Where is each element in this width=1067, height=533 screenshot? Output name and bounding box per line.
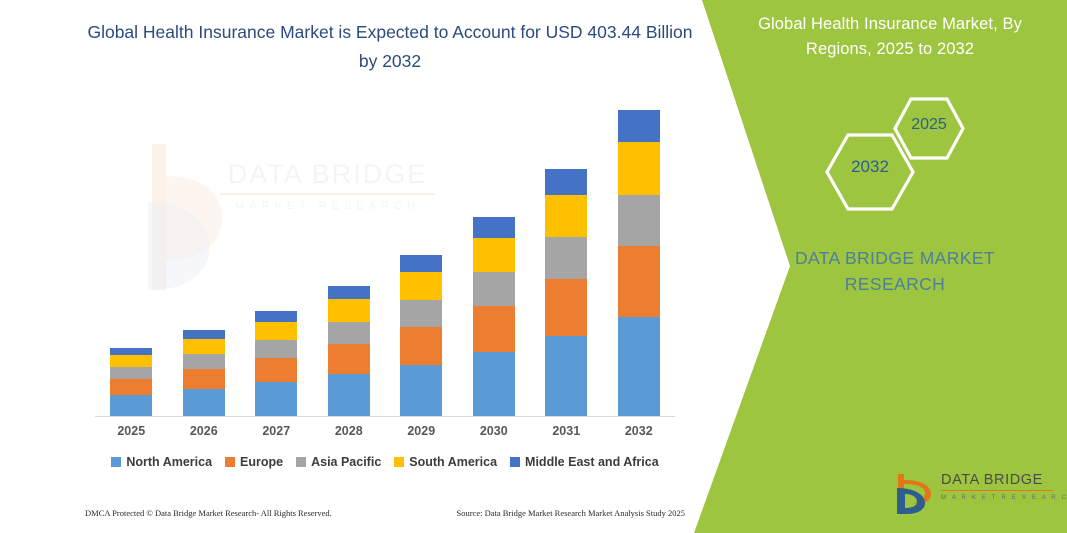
bar-segment[interactable] [183, 339, 225, 354]
x-axis-label: 2031 [545, 424, 587, 438]
bar-2026[interactable] [183, 330, 225, 417]
panel-brand-line2: RESEARCH [760, 271, 1030, 297]
bar-segment[interactable] [473, 217, 515, 238]
bar-segment[interactable] [400, 255, 442, 272]
hexagon-label-end-year: 2032 [825, 157, 915, 177]
legend-swatch-icon [510, 457, 520, 467]
bar-segment[interactable] [328, 299, 370, 321]
bar-segment[interactable] [110, 367, 152, 378]
bar-2029[interactable] [400, 255, 442, 417]
legend-label: South America [409, 455, 497, 469]
x-axis-label: 2028 [328, 424, 370, 438]
bar-segment[interactable] [255, 358, 297, 383]
footer-copyright: DMCA Protected © Data Bridge Market Rese… [85, 508, 332, 518]
bar-segment[interactable] [618, 195, 660, 246]
footer: DMCA Protected © Data Bridge Market Rese… [85, 508, 685, 518]
bar-segment[interactable] [255, 340, 297, 358]
hexagon-label-start-year: 2025 [893, 116, 965, 134]
x-axis-label: 2029 [400, 424, 442, 438]
logo-wordmark: DATA BRIDGE M A R K E T R E S E A R C H [941, 472, 1053, 502]
chart-legend: North AmericaEuropeAsia PacificSouth Ame… [95, 455, 675, 469]
legend-item[interactable]: Middle East and Africa [510, 455, 659, 469]
bar-segment[interactable] [328, 374, 370, 417]
page-title: Global Health Insurance Market is Expect… [85, 18, 695, 76]
hexagon-badge-end-year: 2032 [825, 133, 915, 211]
bar-segment[interactable] [183, 369, 225, 389]
bar-segment[interactable] [545, 169, 587, 195]
bar-segment[interactable] [183, 389, 225, 417]
footer-source: Source: Data Bridge Market Research Mark… [456, 508, 685, 518]
legend-item[interactable]: Asia Pacific [296, 455, 381, 469]
bar-segment[interactable] [110, 395, 152, 417]
data-bridge-logo-icon [893, 472, 935, 514]
bar-2031[interactable] [545, 169, 587, 417]
bar-segment[interactable] [328, 322, 370, 344]
x-axis-label: 2026 [183, 424, 225, 438]
bar-segment[interactable] [618, 142, 660, 195]
bar-segment[interactable] [328, 344, 370, 374]
legend-item[interactable]: North America [111, 455, 212, 469]
panel-brand: DATA BRIDGE MARKET RESEARCH [760, 245, 1030, 297]
bar-segment[interactable] [110, 379, 152, 395]
legend-label: Asia Pacific [311, 455, 381, 469]
chart-plot-area [95, 110, 675, 417]
legend-swatch-icon [111, 457, 121, 467]
bar-segment[interactable] [110, 355, 152, 367]
legend-swatch-icon [394, 457, 404, 467]
bar-segment[interactable] [255, 322, 297, 340]
bar-segment[interactable] [110, 348, 152, 355]
bar-segment[interactable] [473, 306, 515, 352]
logo-title: DATA BRIDGE [941, 472, 1053, 488]
bar-segment[interactable] [473, 352, 515, 417]
bar-segment[interactable] [473, 238, 515, 272]
bar-segment[interactable] [545, 336, 587, 417]
bar-segment[interactable] [255, 382, 297, 417]
legend-label: Europe [240, 455, 283, 469]
bar-segment[interactable] [183, 330, 225, 339]
x-axis-line [95, 416, 675, 417]
x-axis-label: 2032 [618, 424, 660, 438]
legend-label: North America [126, 455, 212, 469]
logo-subtitle: M A R K E T R E S E A R C H [941, 493, 1053, 502]
bar-2025[interactable] [110, 348, 152, 417]
company-logo: DATA BRIDGE M A R K E T R E S E A R C H [893, 470, 1053, 516]
bar-2027[interactable] [255, 311, 297, 417]
bar-2032[interactable] [618, 110, 660, 417]
bar-segment[interactable] [328, 286, 370, 300]
x-axis-labels: 20252026202720282029203020312032 [95, 424, 675, 438]
bar-segment[interactable] [255, 311, 297, 322]
x-axis-label: 2027 [255, 424, 297, 438]
bar-segment[interactable] [545, 237, 587, 278]
hexagon-badges: 2025 2032 [810, 95, 1010, 210]
legend-swatch-icon [225, 457, 235, 467]
panel-brand-line1: DATA BRIDGE MARKET [760, 245, 1030, 271]
bar-segment[interactable] [618, 110, 660, 142]
legend-item[interactable]: Europe [225, 455, 283, 469]
panel-title: Global Health Insurance Market, By Regio… [730, 12, 1050, 62]
x-axis-label: 2025 [110, 424, 152, 438]
bar-group [95, 110, 675, 417]
bar-segment[interactable] [618, 317, 660, 417]
legend-swatch-icon [296, 457, 306, 467]
bar-segment[interactable] [400, 300, 442, 327]
x-axis-label: 2030 [473, 424, 515, 438]
infographic-canvas: Global Health Insurance Market is Expect… [0, 0, 1067, 533]
legend-item[interactable]: South America [394, 455, 497, 469]
bar-2030[interactable] [473, 217, 515, 417]
bar-segment[interactable] [618, 246, 660, 317]
logo-divider [941, 490, 1053, 491]
bar-segment[interactable] [183, 354, 225, 368]
bar-segment[interactable] [400, 327, 442, 365]
bar-segment[interactable] [545, 279, 587, 336]
bar-segment[interactable] [400, 272, 442, 300]
bar-2028[interactable] [328, 286, 370, 417]
legend-label: Middle East and Africa [525, 455, 659, 469]
bar-segment[interactable] [545, 195, 587, 238]
bar-segment[interactable] [473, 272, 515, 305]
bar-segment[interactable] [400, 365, 442, 418]
